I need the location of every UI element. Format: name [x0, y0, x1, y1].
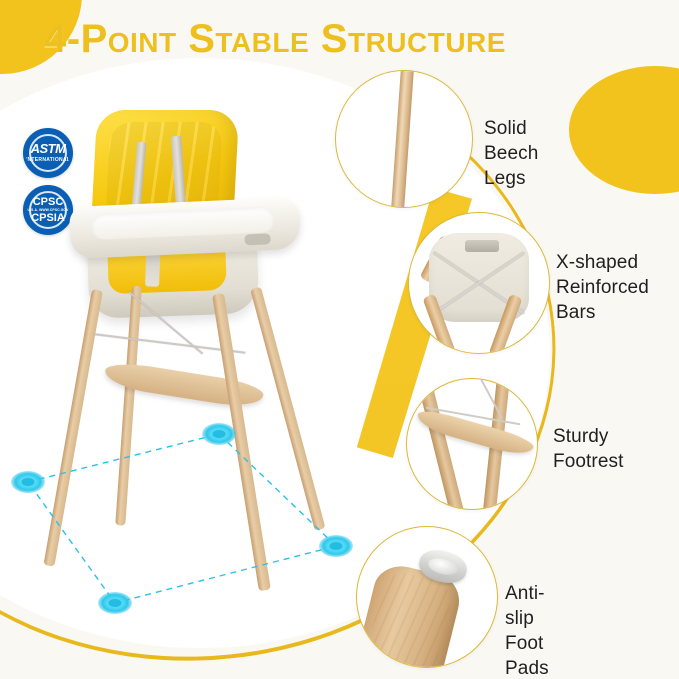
callout-label-solid-beech-legs: Solid Beech Legs [484, 116, 538, 191]
foot-pad-closeup-icon [357, 527, 497, 667]
beech-leg-back-right [250, 287, 325, 531]
callout-label-sturdy-footrest: Sturdy Footrest [553, 424, 623, 474]
callout-label-anti-slip-foot-pads: Anti-slip Foot Pads [505, 581, 549, 679]
high-chair-product-image [62, 104, 342, 624]
footrest-closeup-icon [407, 379, 537, 509]
beech-leg-front-right [212, 293, 271, 591]
beech-leg-closeup-icon [391, 70, 415, 208]
accent-blob-right [569, 66, 679, 194]
callout-circle-solid-beech-legs [335, 70, 473, 208]
brand-logo [244, 233, 270, 245]
underside-plate [465, 240, 499, 253]
page-title: 4-Point Stable Structure [44, 16, 664, 62]
callout-circle-anti-slip-foot-pads [356, 526, 498, 668]
feeding-tray [69, 197, 301, 259]
callout-circle-x-shaped-reinforced-bars [408, 212, 550, 354]
seat-underside-closeup-icon [409, 213, 549, 353]
callout-label-x-shaped-reinforced-bars: X-shaped Reinforced Bars [556, 250, 649, 325]
callout-circle-sturdy-footrest [406, 378, 538, 510]
footrest-leg-left [414, 378, 465, 510]
beech-leg-back-left [115, 286, 142, 526]
infographic-canvas: 4-Point Stable Structure ASTM INTERNATIO… [0, 0, 679, 679]
